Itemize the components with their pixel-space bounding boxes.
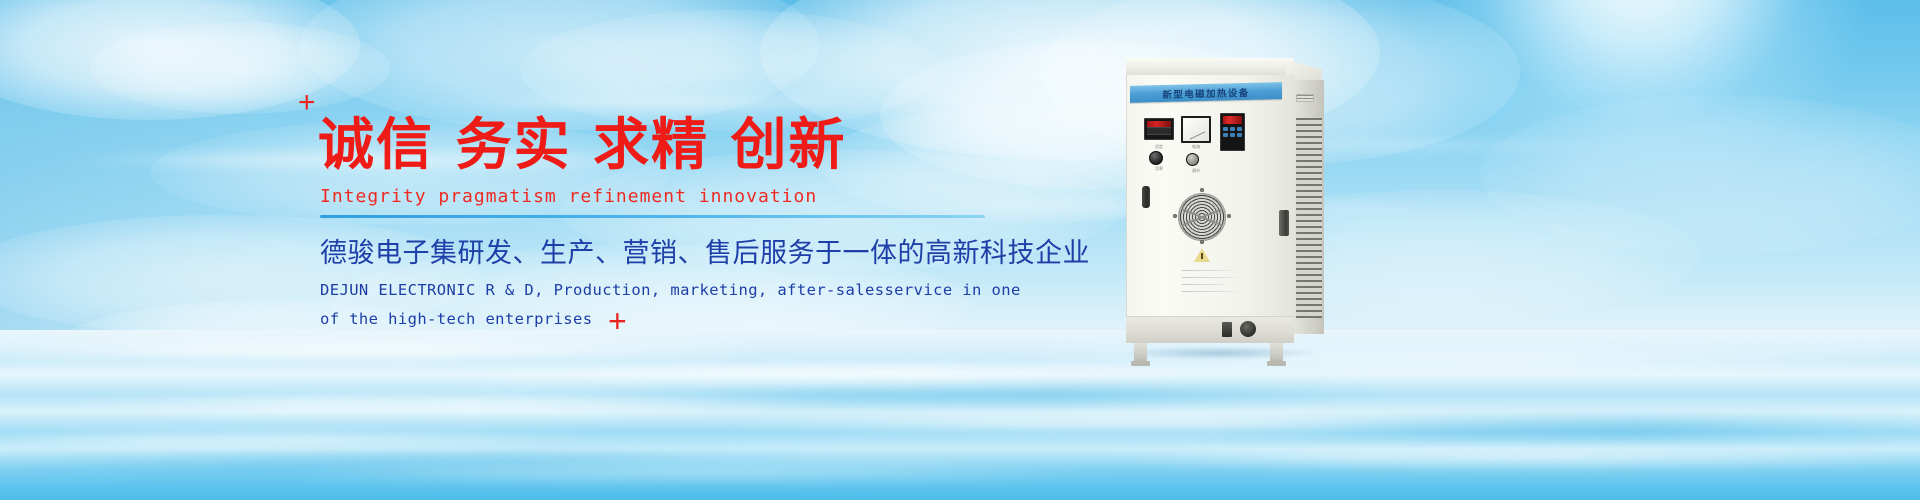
promo-banner: + 诚信 务实 求精 创新 Integrity pragmatism refin… (0, 0, 1920, 500)
small-vent-icon (1296, 94, 1314, 102)
digital-controller-display (1144, 118, 1174, 140)
cabinet-base (1126, 316, 1294, 343)
banner-copy: + 诚信 务实 求精 创新 Integrity pragmatism refin… (0, 0, 1100, 500)
fan-screw (1200, 240, 1204, 244)
knob-caption: 功率 (1139, 166, 1179, 172)
cabinet-foot (1267, 361, 1286, 366)
fan-screw (1227, 214, 1231, 218)
door-handle (1142, 186, 1150, 208)
tagline-english: DEJUN ELECTRONIC R & D, Production, mark… (320, 276, 1040, 333)
knob-caption: 调节 (1176, 168, 1216, 174)
analog-ammeter-gauge (1181, 116, 1211, 143)
product-name-plate-text: 新型电磁加热设备 (1162, 84, 1249, 100)
cabinet-top-panel (1126, 58, 1294, 76)
plus-decoration-icon: + (298, 88, 316, 118)
knob-caption: 电流 (1176, 144, 1216, 150)
headline-chinese: 诚信 务实 求精 创新 (318, 118, 847, 174)
product-image-heating-equipment: 新型电磁加热设备 设定 电流 功率 调节 (1118, 58, 1328, 358)
cabinet-leg (1270, 343, 1283, 363)
cabinet-latch (1279, 210, 1289, 236)
wave-highlight (1080, 448, 1920, 464)
divider-rule (320, 215, 985, 218)
cooling-fan-grille (1178, 193, 1226, 241)
fan-screw (1200, 188, 1204, 192)
knob-caption: 设定 (1139, 144, 1179, 150)
controller-led-readout (1223, 116, 1242, 124)
ventilation-grille (1296, 118, 1322, 318)
headline-english: Integrity pragmatism refinement innovati… (320, 186, 817, 207)
plus-decoration-icon: + (608, 305, 627, 337)
cabinet-leg (1134, 343, 1147, 363)
keypad-controller (1220, 113, 1245, 151)
product-shadow (1122, 346, 1318, 360)
control-knob (1186, 153, 1199, 166)
tagline-chinese: 德骏电子集研发、生产、营销、售后服务于一体的高新科技企业 (320, 238, 1090, 270)
controller-keypad (1223, 127, 1242, 137)
cabinet-foot (1131, 361, 1150, 366)
wave-shadow (1180, 422, 1920, 438)
fan-screw (1173, 214, 1177, 218)
spec-sticker (1182, 270, 1244, 304)
control-knob (1149, 151, 1163, 165)
power-outlet-port (1240, 321, 1256, 337)
power-connector (1222, 322, 1232, 337)
warning-triangle-icon (1194, 248, 1210, 262)
